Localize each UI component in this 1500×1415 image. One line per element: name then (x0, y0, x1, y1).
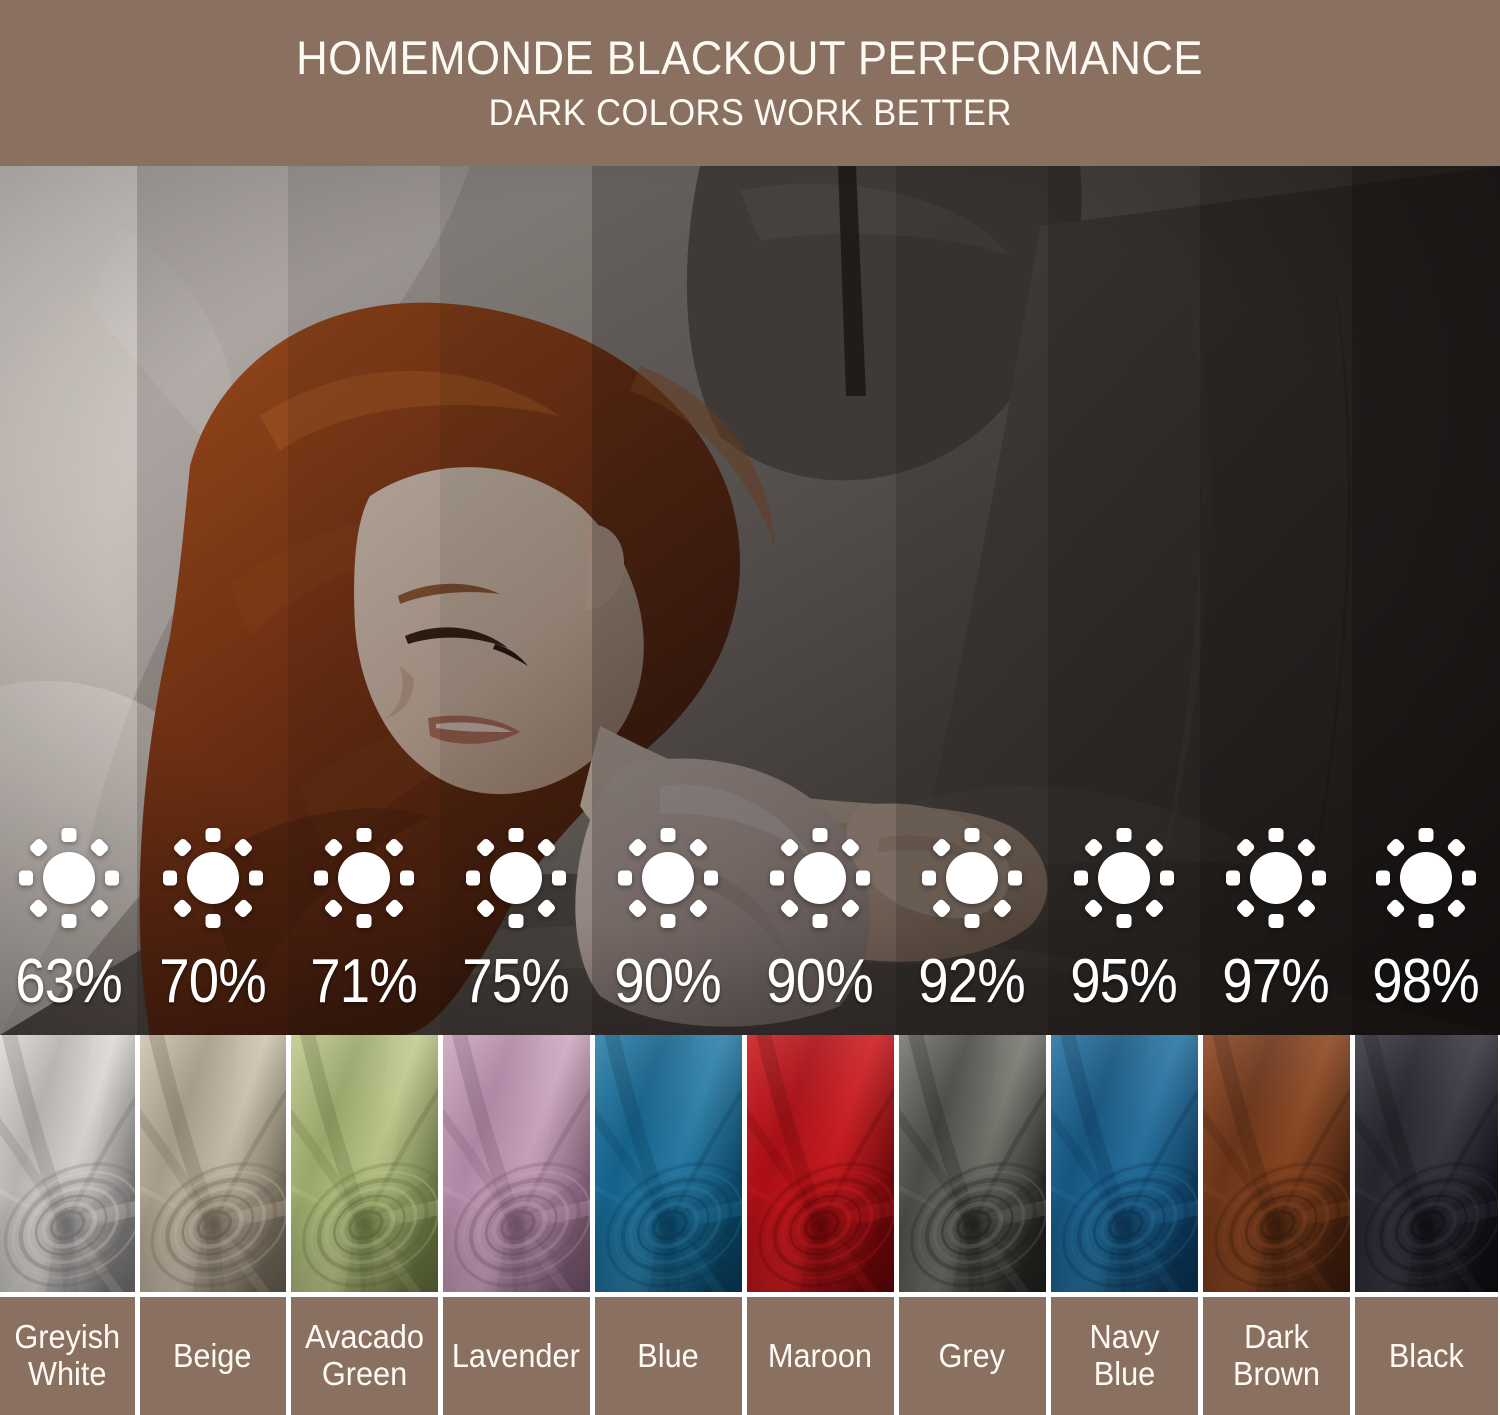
page-subtitle: DARK COLORS WORK BETTER (488, 94, 1011, 133)
color-name-label: Avacado Green (291, 1297, 438, 1415)
sun-icon (457, 819, 575, 937)
header-bar: HOMEMONDE BLACKOUT PERFORMANCE DARK COLO… (0, 0, 1500, 166)
blackout-percent-label: 90% (767, 951, 874, 1013)
sun-icon (10, 819, 128, 937)
fabric-swatch (899, 1035, 1046, 1292)
color-name-text: Avacado Green (296, 1319, 433, 1393)
blackout-readout-cell: 98% (1352, 166, 1500, 1035)
color-name-label: Dark Brown (1203, 1297, 1350, 1415)
blackout-percent-label: 97% (1223, 951, 1330, 1013)
sun-icon (913, 819, 1031, 937)
color-name-text: Maroon (764, 1338, 875, 1375)
blackout-performance-infographic: HOMEMONDE BLACKOUT PERFORMANCE DARK COLO… (0, 0, 1500, 1415)
blackout-readout-cell: 97% (1200, 166, 1352, 1035)
color-name-text: Dark Brown (1208, 1319, 1345, 1393)
sun-icon (154, 819, 272, 937)
fabric-swatch (0, 1035, 135, 1292)
sun-icon (305, 819, 423, 937)
color-name-label: Grey (899, 1297, 1046, 1415)
blackout-readout-cell: 90% (592, 166, 744, 1035)
fabric-swatch (443, 1035, 590, 1292)
page-title: HOMEMONDE BLACKOUT PERFORMANCE (297, 33, 1204, 82)
fabric-swatch-row (0, 1035, 1500, 1292)
blackout-percent-label: 70% (159, 951, 266, 1013)
fabric-swatch (1203, 1035, 1350, 1292)
color-name-label: Lavender (443, 1297, 590, 1415)
blackout-readout-cell: 71% (288, 166, 440, 1035)
fabric-swatch (747, 1035, 894, 1292)
blackout-readout-row: 63%70%71%75%90%90%92%95%97%98% (0, 166, 1500, 1035)
blackout-readout-cell: 92% (896, 166, 1048, 1035)
photo-panel: 63%70%71%75%90%90%92%95%97%98% (0, 166, 1500, 1035)
color-name-label: Navy Blue (1051, 1297, 1198, 1415)
sun-icon (1367, 819, 1485, 937)
sun-icon (1065, 819, 1183, 937)
sun-icon (609, 819, 727, 937)
color-name-label: Greyish White (0, 1297, 135, 1415)
blackout-percent-label: 71% (311, 951, 418, 1013)
color-name-text: Lavender (448, 1338, 583, 1375)
blackout-readout-cell: 95% (1048, 166, 1200, 1035)
blackout-percent-label: 75% (463, 951, 570, 1013)
blackout-readout-cell: 63% (0, 166, 137, 1035)
blackout-percent-label: 95% (1071, 951, 1178, 1013)
color-name-label: Beige (140, 1297, 286, 1415)
color-label-row: Greyish WhiteBeigeAvacado GreenLavenderB… (0, 1292, 1500, 1415)
color-name-label: Blue (595, 1297, 742, 1415)
color-name-text: Black (1385, 1338, 1467, 1375)
color-name-text: Blue (634, 1338, 703, 1375)
fabric-swatch (1051, 1035, 1198, 1292)
sun-icon (761, 819, 879, 937)
fabric-swatch (595, 1035, 742, 1292)
blackout-readout-cell: 75% (440, 166, 592, 1035)
color-name-text: Grey (935, 1338, 1009, 1375)
fabric-swatch (291, 1035, 438, 1292)
color-name-text: Greyish White (5, 1319, 130, 1393)
blackout-percent-label: 90% (615, 951, 722, 1013)
blackout-readout-cell: 70% (137, 166, 288, 1035)
blackout-readout-cell: 90% (744, 166, 896, 1035)
color-name-label: Black (1355, 1297, 1498, 1415)
sun-icon (1217, 819, 1335, 937)
fabric-swatch (1355, 1035, 1498, 1292)
blackout-percent-label: 92% (919, 951, 1026, 1013)
color-name-label: Maroon (747, 1297, 894, 1415)
blackout-percent-label: 98% (1373, 951, 1480, 1013)
color-name-text: Navy Blue (1056, 1319, 1193, 1393)
blackout-percent-label: 63% (15, 951, 122, 1013)
color-name-text: Beige (170, 1338, 256, 1375)
fabric-swatch (140, 1035, 286, 1292)
